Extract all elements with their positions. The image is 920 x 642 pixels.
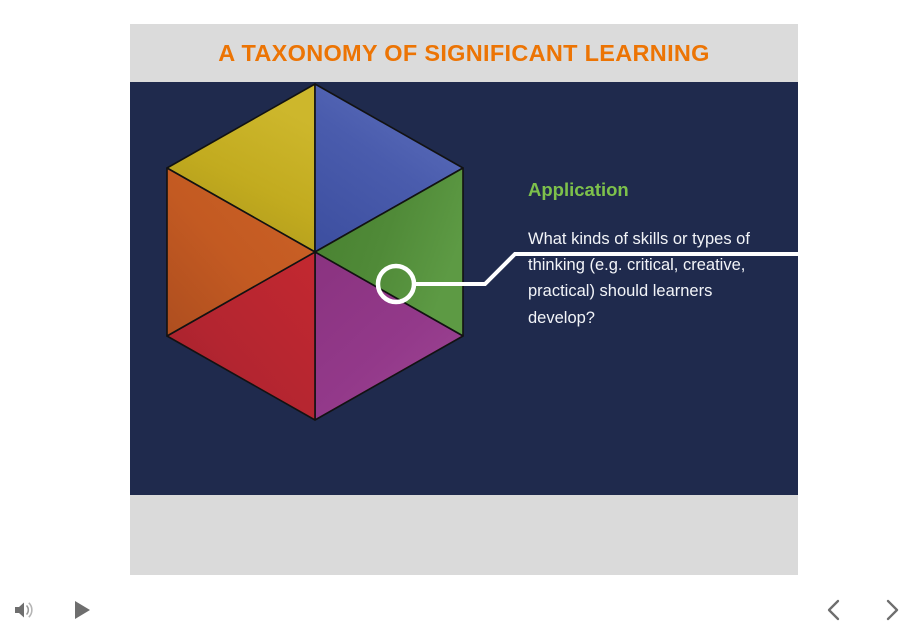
- callout-body-text: What kinds of skills or types of thinkin…: [528, 226, 780, 330]
- play-button[interactable]: [68, 596, 96, 624]
- next-slide-button[interactable]: [878, 596, 906, 624]
- chevron-left-icon: [824, 598, 844, 622]
- taxonomy-hexagon-diagram: [160, 82, 470, 432]
- slide-title-bar: A TAXONOMY OF SIGNIFICANT LEARNING: [130, 24, 798, 82]
- slide-body: Application What kinds of skills or type…: [130, 82, 798, 495]
- callout-panel: Application What kinds of skills or type…: [520, 180, 798, 331]
- slide-footer: [130, 495, 798, 575]
- player-controls-right: [820, 596, 906, 624]
- hexagon-svg: [160, 82, 470, 432]
- chevron-right-icon: [882, 598, 902, 622]
- callout-heading: Application: [528, 180, 798, 200]
- presentation-slide: A TAXONOMY OF SIGNIFICANT LEARNING: [130, 24, 798, 575]
- previous-slide-button[interactable]: [820, 596, 848, 624]
- volume-icon-svg: [12, 599, 36, 621]
- play-icon: [72, 599, 92, 621]
- volume-icon[interactable]: [10, 596, 38, 624]
- player-controls-left: [10, 596, 96, 624]
- page-title: A TAXONOMY OF SIGNIFICANT LEARNING: [218, 40, 710, 67]
